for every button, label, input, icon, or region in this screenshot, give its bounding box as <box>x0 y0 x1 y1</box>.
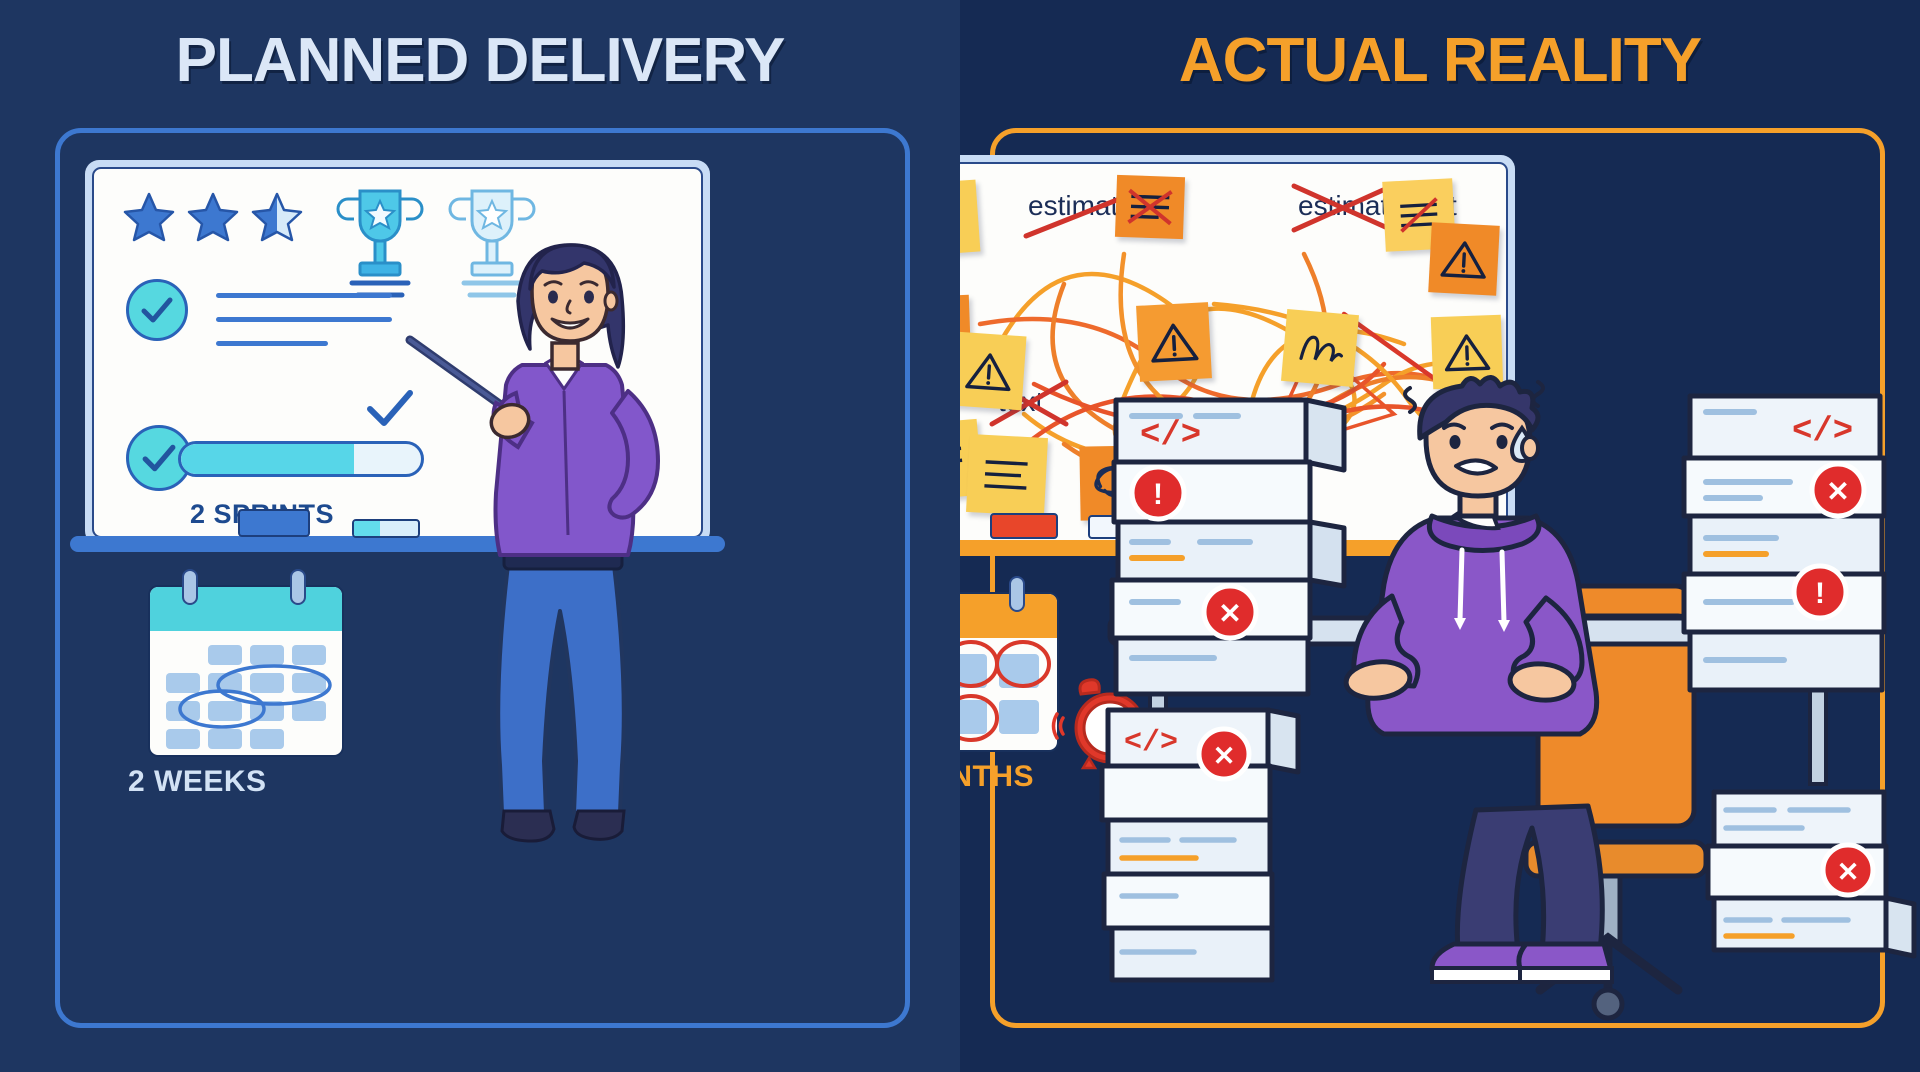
comparison-illustration: PLANNED DELIVERY <box>0 0 1920 1072</box>
check-circle-icon <box>126 279 188 341</box>
board-line <box>216 317 392 322</box>
board-line <box>216 341 328 346</box>
progress-bar <box>178 441 424 477</box>
paper-stack-bottom-left: </> ✕ <box>1102 710 1298 980</box>
calendar-ring <box>182 569 198 605</box>
scribble-icon <box>960 193 970 243</box>
right-panel-title: ACTUAL REALITY <box>960 30 1920 92</box>
paper-stack-right: </> ✕ ! <box>1684 396 1884 690</box>
paper-stack-bottom-right: ✕ <box>1708 792 1914 956</box>
calendar-label-6-months: 6 MONTHS <box>960 760 1034 794</box>
calendar-circle-marks <box>170 623 350 753</box>
calendar-circle-marks <box>960 634 1059 750</box>
code-tag-icon: </> <box>1140 417 1201 455</box>
star-icon-half <box>250 191 304 243</box>
right-panel-actual-reality: ACTUAL REALITY <box>960 0 1920 1072</box>
sticky-note <box>1281 309 1359 387</box>
eraser-icon <box>238 509 310 537</box>
star-icon <box>186 191 240 243</box>
sticky-note <box>966 434 1048 516</box>
board-line <box>216 293 392 298</box>
sticky-note <box>960 332 1026 411</box>
calendar-6-months <box>960 592 1059 752</box>
paper-stack-left: </> ! ✕ <box>1112 400 1344 694</box>
calendar-2-weeks <box>148 585 344 757</box>
svg-text:!: ! <box>1815 577 1825 610</box>
calendar-label-2-weeks: 2 WEEKS <box>128 765 267 799</box>
calendar-ring <box>290 569 306 605</box>
svg-text:✕: ✕ <box>1826 476 1849 507</box>
presenter-figure <box>400 235 730 835</box>
warning-icon <box>1442 330 1491 374</box>
svg-text:✕: ✕ <box>1213 741 1236 771</box>
left-panel-planned-delivery: PLANNED DELIVERY <box>0 0 960 1072</box>
star-icon <box>122 191 176 243</box>
left-panel-title: PLANNED DELIVERY <box>0 30 960 92</box>
code-tag-icon: </> <box>1792 413 1853 451</box>
sticky-note <box>1428 222 1500 295</box>
stressed-developer-figure <box>1344 377 1612 982</box>
svg-text:✕: ✕ <box>1837 857 1860 887</box>
sticky-note <box>1115 175 1185 239</box>
warning-icon <box>964 348 1015 393</box>
svg-text:!: ! <box>1153 478 1163 511</box>
calendar-ring <box>1009 576 1025 612</box>
crossed-lines-icon <box>1122 184 1178 230</box>
eraser-icon <box>990 513 1058 539</box>
warning-icon <box>1148 319 1200 366</box>
handwriting-icon <box>1292 326 1347 370</box>
developer-workspace: </> ! ✕ <box>1110 390 1920 1050</box>
lines-icon <box>978 452 1036 499</box>
warning-icon <box>1439 237 1489 281</box>
code-tag-icon: </> <box>1124 726 1178 760</box>
sticky-note <box>1136 302 1212 382</box>
svg-text:✕: ✕ <box>1218 598 1241 629</box>
progress-bar-fill <box>181 444 354 474</box>
